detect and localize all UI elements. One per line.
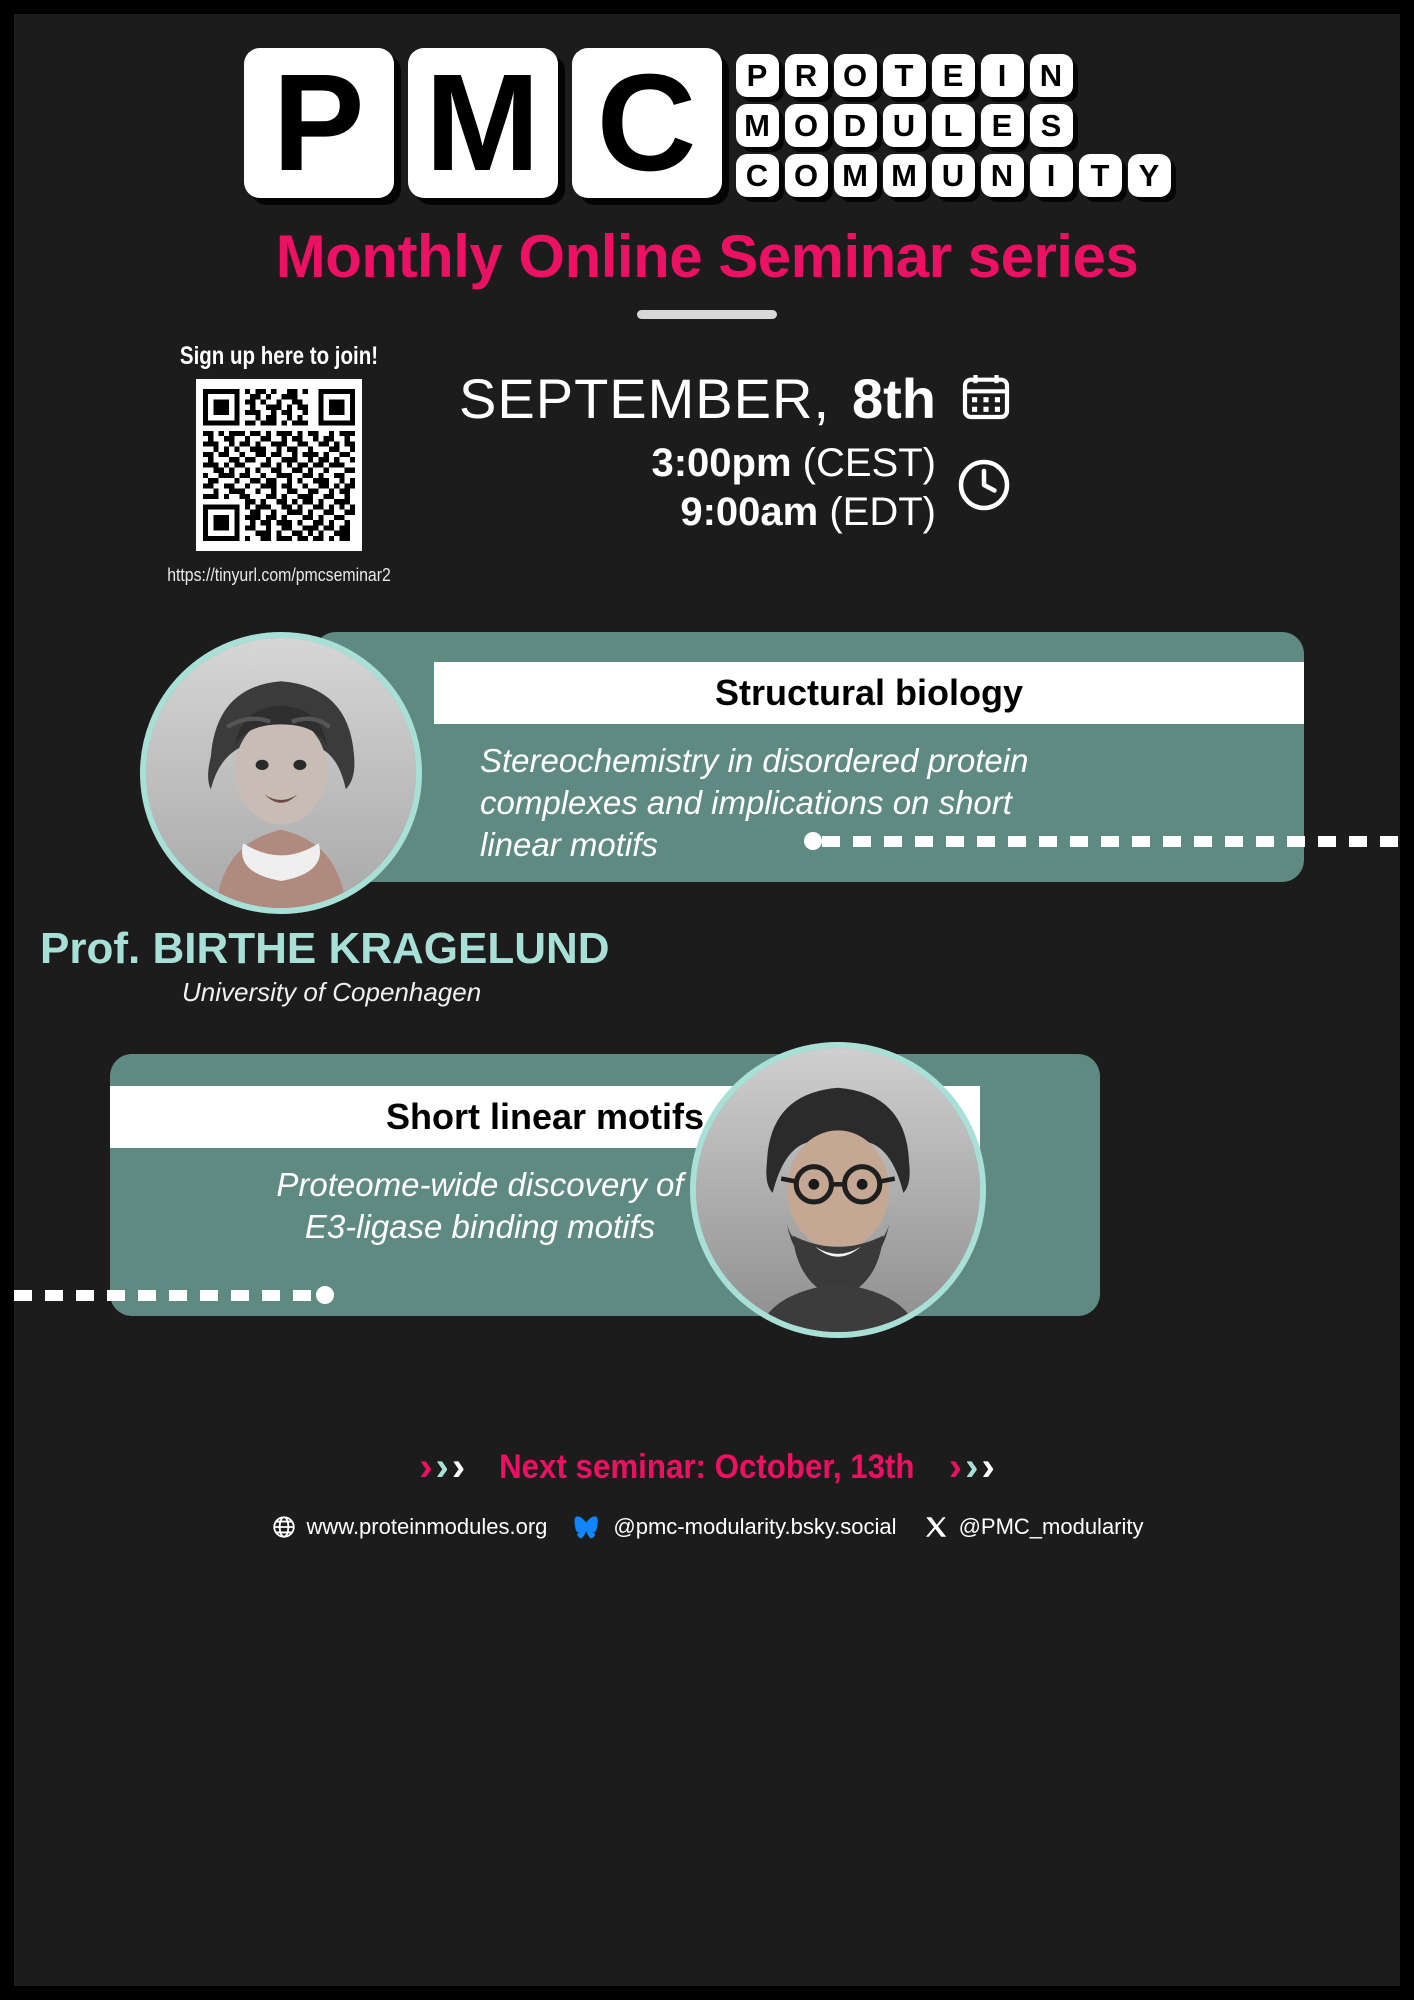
letter-tile: C <box>736 154 779 197</box>
pmc-logo: P M C P R O T E I N M O D U L E S <box>14 48 1400 198</box>
word-row-community: C O M M U N I T Y <box>736 154 1171 197</box>
letter-tile: I <box>981 54 1024 97</box>
speaker-name-1: Prof. BIRTHE KRAGELUND <box>40 924 610 974</box>
footer-x[interactable]: @PMC_modularity <box>923 1514 1144 1540</box>
footer-bluesky[interactable]: @pmc-modularity.bsky.social <box>573 1514 896 1540</box>
chevron-right-icon: › <box>981 1447 994 1487</box>
letter-tile: E <box>981 104 1024 147</box>
footer-website-label: www.proteinmodules.org <box>307 1514 548 1540</box>
word-row-modules: M O D U L E S <box>736 104 1171 147</box>
event-datetime: SEPTEMBER, 8th 3 <box>414 366 1014 537</box>
chevron-right-icon: › <box>436 1447 449 1487</box>
connector-dot <box>316 1286 334 1304</box>
event-day: 8th <box>852 366 936 431</box>
letter-tile: N <box>1030 54 1073 97</box>
qr-code-icon[interactable] <box>196 379 362 551</box>
chevron-right-icon: › <box>965 1447 978 1487</box>
footer-website[interactable]: www.proteinmodules.org <box>271 1514 548 1540</box>
letter-tile: I <box>1030 154 1073 197</box>
letter-tile: E <box>932 54 975 97</box>
letter-tile: Y <box>1128 154 1171 197</box>
chevron-group-left: › › › <box>419 1447 465 1487</box>
time-row: 9:00am (EDT) <box>651 488 936 537</box>
calendar-icon <box>958 368 1014 429</box>
next-seminar-banner: › › › Next seminar: October, 13th › › › <box>14 1447 1400 1487</box>
letter-tile: O <box>785 154 828 197</box>
connector-dashes <box>822 836 1414 847</box>
speaker-photo-1 <box>140 632 422 914</box>
talk-title-2: Proteome-wide discovery of E3-ligase bin… <box>260 1164 700 1248</box>
letter-tile: M <box>883 154 926 197</box>
clock-icon <box>954 455 1014 520</box>
globe-icon <box>271 1514 297 1540</box>
x-twitter-icon <box>923 1514 949 1540</box>
letter-tile: T <box>883 54 926 97</box>
time-zone: (CEST) <box>803 441 936 485</box>
time-value: 9:00am <box>680 490 818 534</box>
event-date-line: SEPTEMBER, 8th <box>414 366 1014 431</box>
signup-block: Sign up here to join! <box>134 342 424 586</box>
speaker-affiliation-1: University of Copenhagen <box>182 977 481 1008</box>
footer-links: www.proteinmodules.org @pmc-modularity.b… <box>14 1514 1400 1540</box>
talk-topic-1: Structural biology <box>434 662 1304 724</box>
bluesky-icon <box>573 1514 603 1540</box>
time-zone: (EDT) <box>829 490 936 534</box>
connector-line-2 <box>14 1286 334 1304</box>
letter-tile: L <box>932 104 975 147</box>
connector-dot <box>804 832 822 850</box>
footer-x-label: @PMC_modularity <box>959 1514 1144 1540</box>
event-times: 3:00pm (CEST) 9:00am (EDT) <box>651 439 936 537</box>
speaker-photo-2 <box>690 1042 986 1338</box>
word-row-protein: P R O T E I N <box>736 54 1171 97</box>
letter-tile: S <box>1030 104 1073 147</box>
chevron-right-icon: › <box>452 1447 465 1487</box>
chevron-group-right: › › › <box>949 1447 995 1487</box>
connector-line-1 <box>804 832 1414 850</box>
next-seminar-label: Next seminar: October, 13th <box>499 1448 914 1487</box>
brand-word-stack: P R O T E I N M O D U L E S C O M M <box>736 48 1171 197</box>
chevron-right-icon: › <box>949 1447 962 1487</box>
letter-tile: U <box>932 154 975 197</box>
time-row: 3:00pm (CEST) <box>651 439 936 488</box>
title-divider <box>637 310 777 319</box>
connector-dashes <box>14 1290 316 1301</box>
letter-tile: N <box>981 154 1024 197</box>
footer-bluesky-label: @pmc-modularity.bsky.social <box>613 1514 896 1540</box>
letter-tile: P <box>736 54 779 97</box>
event-month: SEPTEMBER, <box>459 366 830 431</box>
event-time-line: 3:00pm (CEST) 9:00am (EDT) <box>414 439 1014 537</box>
letter-tile: R <box>785 54 828 97</box>
letter-tile: M <box>736 104 779 147</box>
acronym-tile-c: C <box>572 48 722 198</box>
letter-tile: O <box>785 104 828 147</box>
signup-caption: Sign up here to join! <box>160 342 398 371</box>
chevron-right-icon: › <box>419 1447 432 1487</box>
acronym-tile-p: P <box>244 48 394 198</box>
letter-tile: D <box>834 104 877 147</box>
letter-tile: U <box>883 104 926 147</box>
letter-tile: T <box>1079 154 1122 197</box>
signup-url[interactable]: https://tinyurl.com/pmcseminar2 <box>151 565 406 586</box>
page-title: Monthly Online Seminar series <box>14 222 1400 291</box>
time-value: 3:00pm <box>651 441 791 485</box>
letter-tile: M <box>834 154 877 197</box>
seminar-poster: P M C P R O T E I N M O D U L E S <box>0 0 1414 2000</box>
acronym-tiles: P M C <box>244 48 722 198</box>
acronym-tile-m: M <box>408 48 558 198</box>
letter-tile: O <box>834 54 877 97</box>
